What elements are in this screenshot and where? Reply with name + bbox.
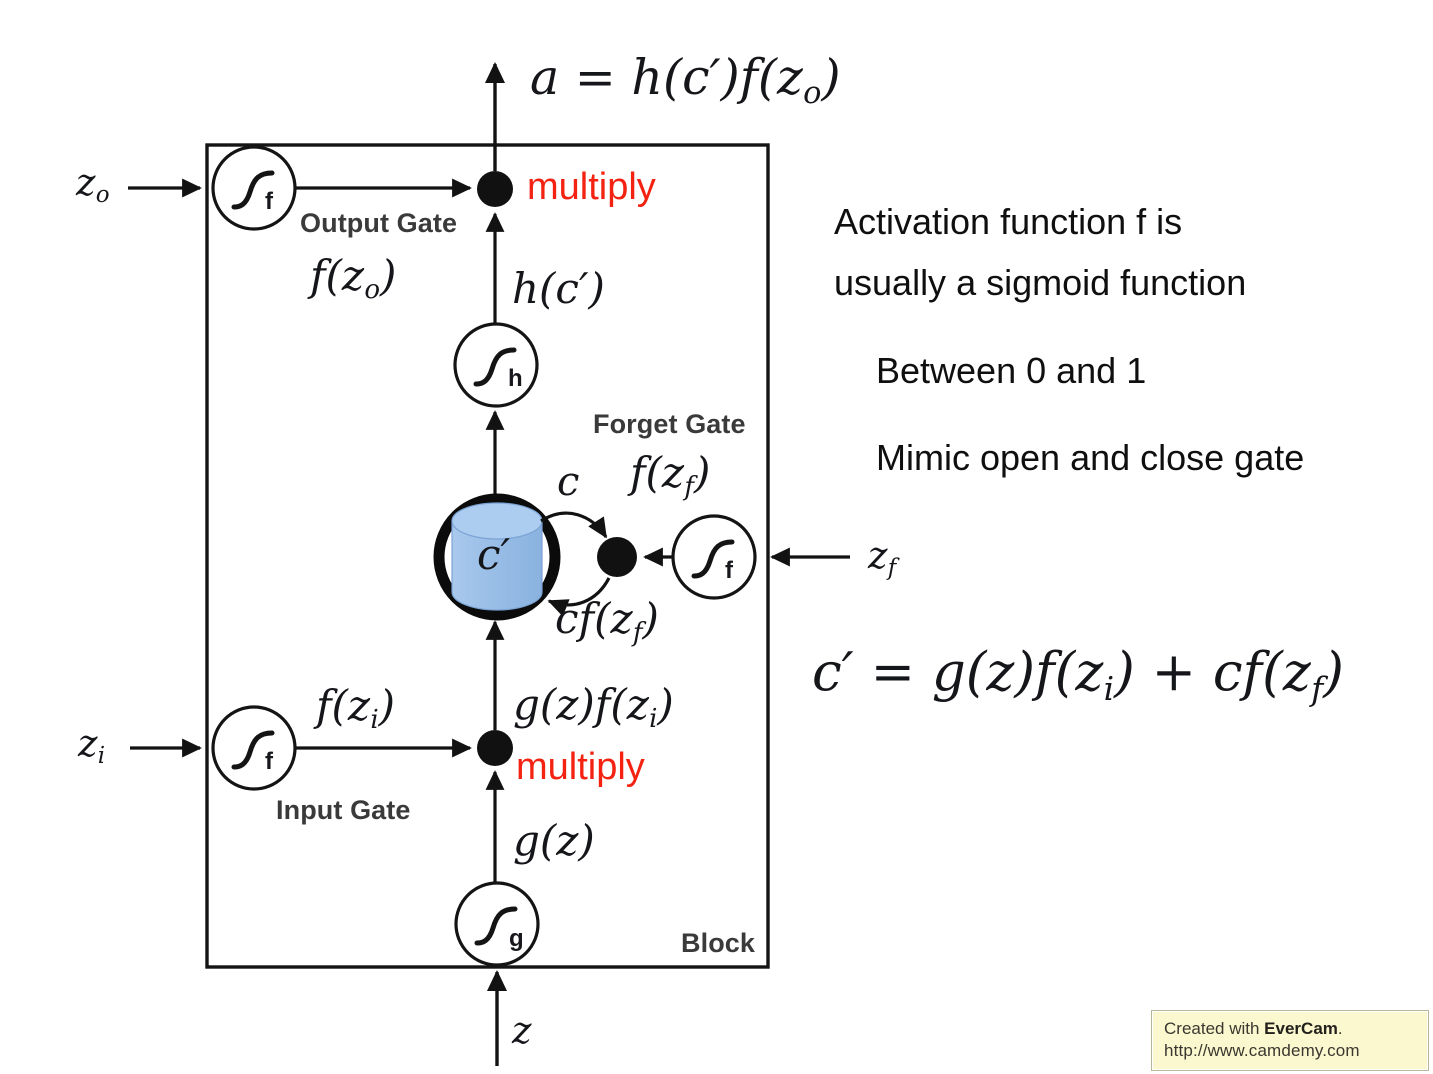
block-label: Block xyxy=(681,930,755,957)
forget-gate-circle xyxy=(673,516,755,598)
h-activation-circle xyxy=(455,324,537,406)
forget-gate-label: Forget Gate xyxy=(593,411,746,438)
recurrent-c-label: c xyxy=(557,462,579,502)
g-glyph-letter: g xyxy=(509,927,524,951)
slide-canvas: a = h(c′)f(zo) zo Output Gate f(zo) mult… xyxy=(0,0,1433,1074)
note-line-4: Mimic open and close gate xyxy=(876,440,1304,476)
recurrent-cf-label: cf(zf) xyxy=(555,598,659,640)
g-activation-circle xyxy=(456,883,538,965)
lstm-diagram-graphics xyxy=(0,0,1433,1074)
zo-input-label: zo xyxy=(76,164,110,201)
input-gate-label: Input Gate xyxy=(276,797,411,824)
evercam-suffix: . xyxy=(1338,1019,1343,1038)
note-line-3: Between 0 and 1 xyxy=(876,353,1146,389)
output-gate-label: Output Gate xyxy=(300,210,457,237)
input-gate-activation-label: f(zi) xyxy=(316,685,395,727)
evercam-line-1: Created with EverCam. xyxy=(1164,1018,1418,1040)
cell-input-product-label: g(z)f(zi) xyxy=(513,684,674,726)
note-line-2: usually a sigmoid function xyxy=(834,265,1246,301)
forget-junction-node xyxy=(597,537,637,577)
g-of-z-label: g(z) xyxy=(513,820,595,862)
output-equation: a = h(c′)f(zo) xyxy=(530,53,841,102)
cell-state-equation: c′ = g(z)f(zi) + cf(zf) xyxy=(812,646,1344,699)
evercam-brand: EverCam xyxy=(1264,1019,1338,1038)
evercam-url: http://www.camdemy.com xyxy=(1164,1040,1418,1062)
output-gate-circle xyxy=(213,147,295,229)
bottom-multiply-label: multiply xyxy=(516,748,645,786)
memory-cell-label: c′ xyxy=(477,534,510,576)
zi-input-label: zi xyxy=(78,725,105,762)
forget-gate-glyph-letter: f xyxy=(725,559,733,583)
output-gate-activation-label: f(zo) xyxy=(310,255,396,297)
forget-gate-activation-label: f(zf) xyxy=(630,452,710,494)
top-multiply-node xyxy=(477,171,513,207)
input-gate-circle xyxy=(213,707,295,789)
bottom-multiply-node xyxy=(477,730,513,766)
z-input-label: z xyxy=(512,1012,532,1049)
evercam-watermark: Created with EverCam. http://www.camdemy… xyxy=(1151,1010,1429,1071)
top-multiply-label: multiply xyxy=(527,168,656,206)
output-gate-glyph-letter: f xyxy=(265,190,273,214)
note-line-1: Activation function f is xyxy=(834,204,1182,240)
h-glyph-letter: h xyxy=(508,367,523,391)
input-gate-glyph-letter: f xyxy=(265,750,273,774)
evercam-prefix: Created with xyxy=(1164,1019,1264,1038)
zf-input-label: zf xyxy=(868,537,896,574)
h-of-c-label: h(c′) xyxy=(512,268,605,310)
